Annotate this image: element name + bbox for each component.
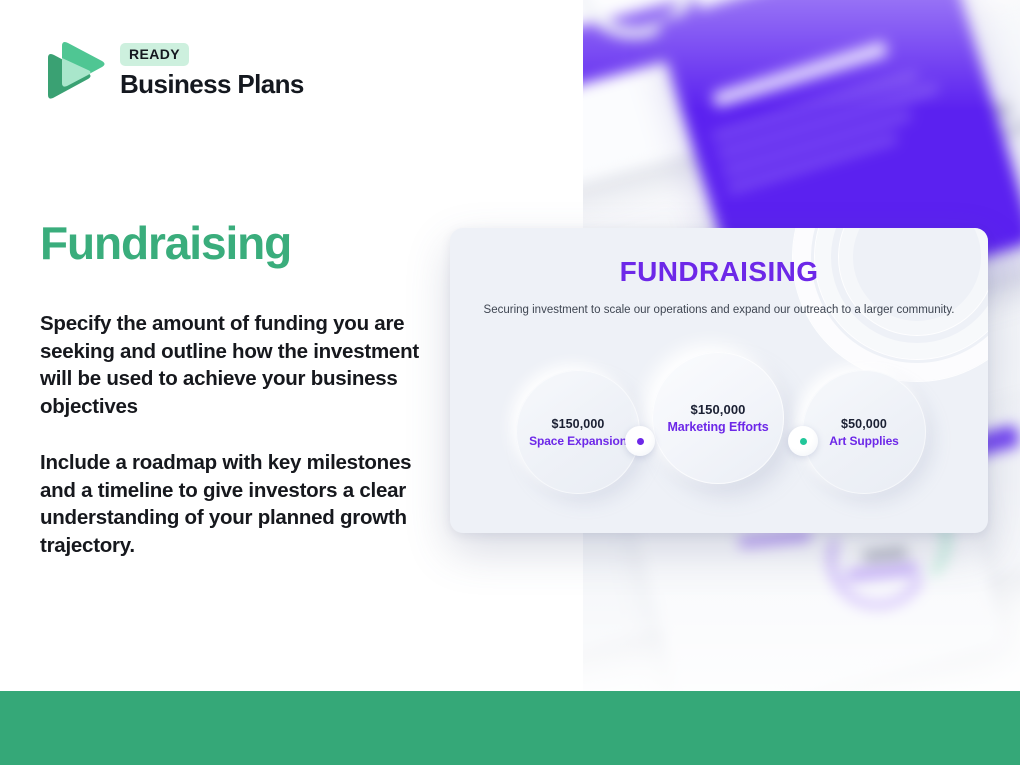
fundraising-item-marketing-efforts: $150,000 Marketing Efforts	[633, 330, 803, 520]
brand-name: Business Plans	[120, 69, 304, 100]
page-title: Fundraising	[40, 216, 291, 270]
brand-text-block: READY Business Plans	[120, 43, 304, 100]
connector-dot-left-core	[637, 438, 644, 445]
connector-dot-right	[788, 426, 818, 456]
fundraising-item-art-supplies: $50,000 Art Supplies	[802, 370, 926, 494]
ready-badge: READY	[120, 43, 189, 66]
brand-lockup: READY Business Plans	[40, 38, 304, 104]
item-amount: $50,000	[841, 417, 887, 431]
footer-green-bar	[0, 691, 1020, 765]
body-paragraph-1: Specify the amount of funding you are se…	[40, 310, 430, 420]
item-label: Art Supplies	[829, 434, 898, 448]
item-amount: $150,000	[690, 402, 745, 417]
item-amount: $150,000	[552, 417, 605, 431]
card-title: FUNDRAISING	[450, 256, 988, 288]
fundraising-circles-group: $150,000 Space Expansion	[450, 344, 988, 524]
body-paragraph-2: Include a roadmap with key milestones an…	[40, 449, 430, 559]
card-subtitle: Securing investment to scale our operati…	[450, 302, 988, 318]
fundraising-card: FUNDRAISING Securing investment to scale…	[450, 228, 988, 533]
center-circle: $150,000 Marketing Efforts	[652, 352, 784, 484]
fundraising-item-space-expansion: $150,000 Space Expansion	[516, 370, 640, 494]
item-label: Marketing Efforts	[667, 420, 768, 434]
connector-dot-right-core	[800, 438, 807, 445]
connector-dot-left	[625, 426, 655, 456]
slide-canvas: READY Business Plans Fundraising Specify…	[0, 0, 1020, 765]
item-label: Space Expansion	[529, 434, 627, 448]
double-play-triangle-logo-icon	[40, 38, 106, 104]
